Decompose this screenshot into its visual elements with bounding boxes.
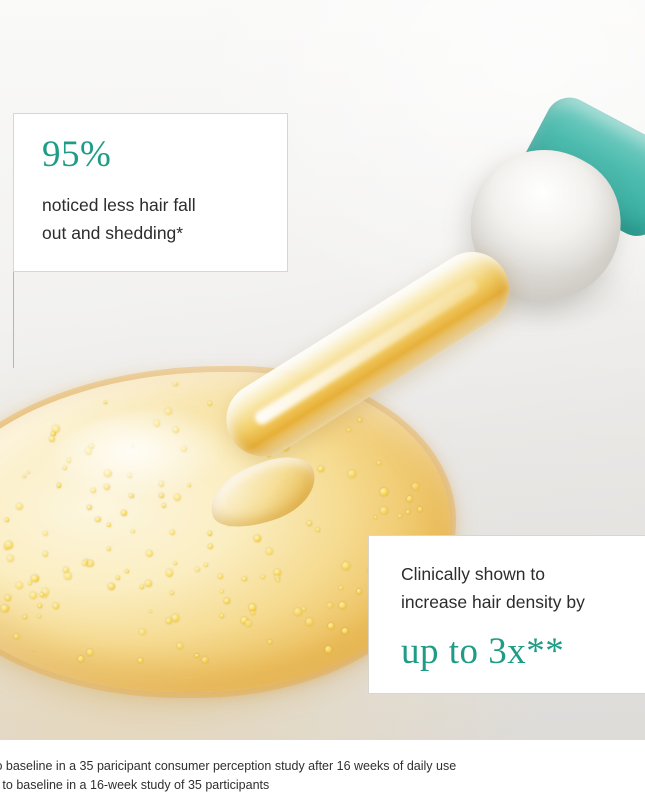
serum-bead (27, 471, 30, 474)
serum-bead (64, 572, 72, 580)
serum-bead (327, 603, 332, 608)
hair-density-stat: up to 3x** (401, 633, 645, 670)
serum-bead (276, 578, 280, 582)
serum-bead (23, 615, 27, 619)
serum-bead (195, 654, 198, 657)
serum-bead (49, 436, 55, 442)
serum-bead (53, 603, 59, 609)
serum-bead (138, 658, 143, 663)
hair-density-line-2: increase hair density by (401, 588, 645, 616)
serum-bead (116, 576, 120, 580)
serum-bead (78, 656, 84, 662)
serum-bead (43, 551, 48, 556)
serum-bead (166, 569, 174, 577)
serum-bead (357, 589, 361, 593)
hair-density-line-1: Clinically shown to (401, 560, 645, 588)
serum-bead (251, 610, 255, 614)
serum-bead (202, 657, 208, 663)
serum-bead (208, 544, 213, 549)
serum-bead (266, 548, 273, 555)
serum-bead (108, 583, 115, 590)
pipette-highlight (252, 277, 480, 427)
serum-bead (328, 623, 334, 629)
serum-bead (145, 580, 152, 587)
serum-bead (87, 649, 93, 655)
serum-bead (302, 607, 306, 611)
serum-bead (16, 582, 22, 588)
serum-bead (268, 640, 271, 643)
serum-bead (170, 591, 174, 595)
serum-bead (16, 503, 23, 510)
footnotes: to baseline in a 35 paricipant consumer … (0, 757, 645, 796)
serum-bead (177, 643, 183, 649)
hair-fall-line-2: out and shedding* (42, 219, 261, 247)
serum-bead (218, 574, 223, 579)
serum-bead (52, 425, 60, 433)
serum-bead (40, 593, 44, 597)
serum-bead (166, 618, 172, 624)
serum-bead (1, 605, 9, 613)
serum-bead (342, 628, 348, 634)
serum-bead (174, 562, 177, 565)
serum-bead (23, 475, 26, 478)
serum-bead (245, 620, 252, 627)
serum-bead (107, 547, 111, 551)
hair-fall-stat: 95% (42, 136, 261, 173)
serum-bead (224, 598, 230, 604)
serum-bead (204, 563, 208, 567)
promo-image: 95% noticed less hair fall out and shedd… (0, 0, 645, 807)
serum-bead (306, 618, 313, 625)
serum-bead (125, 570, 128, 573)
serum-bead (325, 646, 333, 654)
callout-hair-density: Clinically shown to increase hair densit… (368, 535, 645, 694)
serum-bead (14, 634, 19, 639)
serum-bead (172, 614, 180, 622)
serum-bead (43, 531, 48, 536)
serum-bead (5, 541, 12, 548)
serum-bead (146, 550, 153, 557)
footnote-1: to baseline in a 35 paricipant consumer … (0, 757, 645, 776)
footnote-2: d to baseline in a 16-week study of 35 p… (0, 776, 645, 795)
serum-bead (294, 608, 302, 616)
serum-bead (104, 401, 107, 404)
serum-bead (28, 582, 31, 585)
serum-bead (131, 530, 135, 534)
serum-bead (139, 629, 146, 636)
serum-bead (220, 614, 223, 617)
dropper-pipette (196, 238, 596, 538)
serum-bead (31, 575, 38, 582)
serum-bead (249, 604, 255, 610)
serum-bead (242, 577, 247, 582)
serum-bead (339, 602, 346, 609)
serum-bead (38, 604, 42, 608)
serum-bead (19, 412, 24, 417)
serum-bead (140, 585, 144, 589)
serum-bead (321, 663, 326, 668)
serum-bead (5, 518, 9, 522)
serum-bead (170, 530, 175, 535)
hair-fall-line-1: noticed less hair fall (42, 191, 261, 219)
serum-bead (30, 592, 37, 599)
serum-bead (173, 382, 178, 387)
serum-bead (261, 575, 265, 579)
serum-bead (195, 567, 200, 572)
serum-bead (7, 555, 14, 562)
serum-bead (342, 562, 350, 570)
callout-hair-fall: 95% noticed less hair fall out and shedd… (13, 113, 288, 272)
serum-bead (5, 391, 13, 399)
pipette-tip (201, 447, 324, 539)
serum-bead (149, 610, 152, 613)
serum-bead (38, 615, 41, 618)
serum-bead (220, 590, 223, 593)
serum-bead (32, 389, 37, 394)
callout-leader-line (13, 272, 14, 368)
serum-bead (5, 595, 11, 601)
serum-bead (9, 404, 14, 409)
serum-bead (339, 586, 343, 590)
